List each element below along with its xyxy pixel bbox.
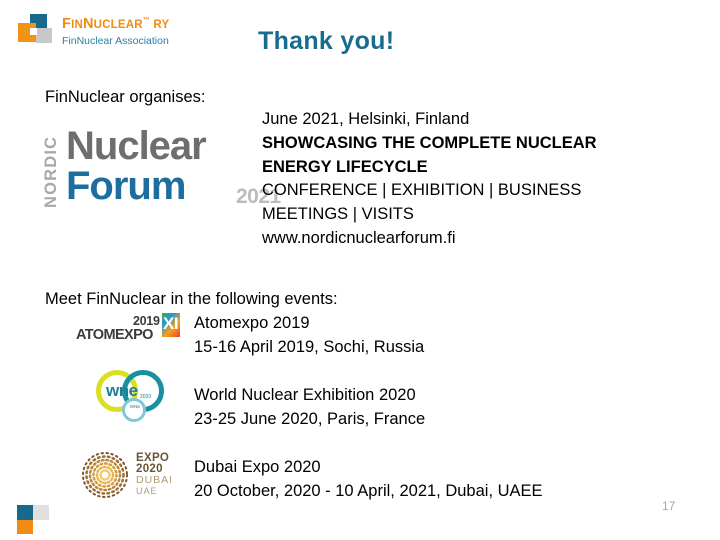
nnf-line-lifecycle: ENERGY LIFECYCLE xyxy=(262,156,702,180)
wne-dates: 23-25 June 2020, Paris, France xyxy=(194,408,425,432)
dubai-expo-medallion-icon xyxy=(80,450,130,500)
finnuclear-logo: FINNUCLEAR™ RY FinNuclear Association xyxy=(16,12,236,52)
nnf-line-showcasing: SHOWCASING THE COMPLETE NUCLEAR xyxy=(262,132,702,156)
atomexpo-wordmark: ATOMEXPO xyxy=(76,327,153,343)
finnuclear-logo-title: FINNUCLEAR™ RY xyxy=(62,12,169,34)
wne-badge-text: WNE xyxy=(126,404,144,409)
nnf-nordic-text: NORDIC xyxy=(42,133,64,211)
logo-title-uclear: UCLEAR xyxy=(94,19,143,31)
wne-ring-small-icon xyxy=(122,398,146,422)
wne-wordmark: wne xyxy=(106,382,138,400)
dubai-expo-wordmark: EXPO 2020 DUBAI UAE xyxy=(136,453,173,497)
atomexpo-year-text: 2019 xyxy=(133,314,160,328)
dubai-expo-logo: EXPO 2020 DUBAI UAE xyxy=(80,450,188,500)
wne-details: World Nuclear Exhibition 2020 23-25 June… xyxy=(194,384,425,431)
logo-title-ry: RY xyxy=(150,19,169,31)
footer-square-gray-icon xyxy=(33,505,49,520)
meet-events-label: Meet FinNuclear in the following events: xyxy=(45,288,338,311)
nnf-forum-text: Forum xyxy=(66,165,185,207)
wne-name: World Nuclear Exhibition 2020 xyxy=(194,384,425,408)
atomexpo-numeral-text: XI xyxy=(163,314,178,334)
atomexpo-logo: 2019 XI ATOMEXPO xyxy=(76,313,180,346)
logo-title-n: N xyxy=(83,16,94,32)
logo-square-gray-icon xyxy=(36,28,52,43)
logo-title-f: F xyxy=(62,16,71,32)
nordic-nuclear-forum-details: June 2021, Helsinki, Finland SHOWCASING … xyxy=(262,108,702,251)
wne-logo: wne 2020 WNE xyxy=(96,370,168,422)
page-title: Thank you! xyxy=(258,27,394,56)
logo-title-in: IN xyxy=(71,19,83,31)
footer-square-blue-icon xyxy=(17,505,33,520)
footer-decoration xyxy=(17,505,49,534)
dubai-expo-dates: 20 October, 2020 - 10 April, 2021, Dubai… xyxy=(194,480,543,504)
nnf-nuclear-text: Nuclear xyxy=(66,125,206,167)
finnuclear-logo-text: FINNUCLEAR™ RY FinNuclear Association xyxy=(62,12,169,48)
nordic-nuclear-forum-logo: NORDIC Nuclear Forum 2021 xyxy=(42,125,260,213)
wne-year-text: 2020 xyxy=(140,394,151,400)
finnuclear-logo-mark xyxy=(16,14,54,48)
nnf-line-website: www.nordicnuclearforum.fi xyxy=(262,227,702,251)
atomexpo-dates: 15-16 April 2019, Sochi, Russia xyxy=(194,336,424,360)
organises-label: FinNuclear organises: xyxy=(45,86,206,109)
nnf-line-conference: CONFERENCE | EXHIBITION | BUSINESS xyxy=(262,179,702,203)
nnf-line-date: June 2021, Helsinki, Finland xyxy=(262,108,702,132)
nnf-line-meetings: MEETINGS | VISITS xyxy=(262,203,702,227)
logo-square-white-icon xyxy=(30,28,37,35)
footer-square-orange-icon xyxy=(17,520,33,534)
finnuclear-logo-subtitle: FinNuclear Association xyxy=(62,34,169,48)
dubai-expo-name: Dubai Expo 2020 xyxy=(194,456,543,480)
atomexpo-name: Atomexpo 2019 xyxy=(194,312,424,336)
dubai-expo-line3: DUBAI xyxy=(136,475,173,486)
trademark-icon: ™ xyxy=(143,17,150,24)
dubai-expo-line4: UAE xyxy=(136,486,173,497)
dubai-expo-details: Dubai Expo 2020 20 October, 2020 - 10 Ap… xyxy=(194,456,543,503)
atomexpo-details: Atomexpo 2019 15-16 April 2019, Sochi, R… xyxy=(194,312,424,359)
page-number: 17 xyxy=(662,499,675,513)
